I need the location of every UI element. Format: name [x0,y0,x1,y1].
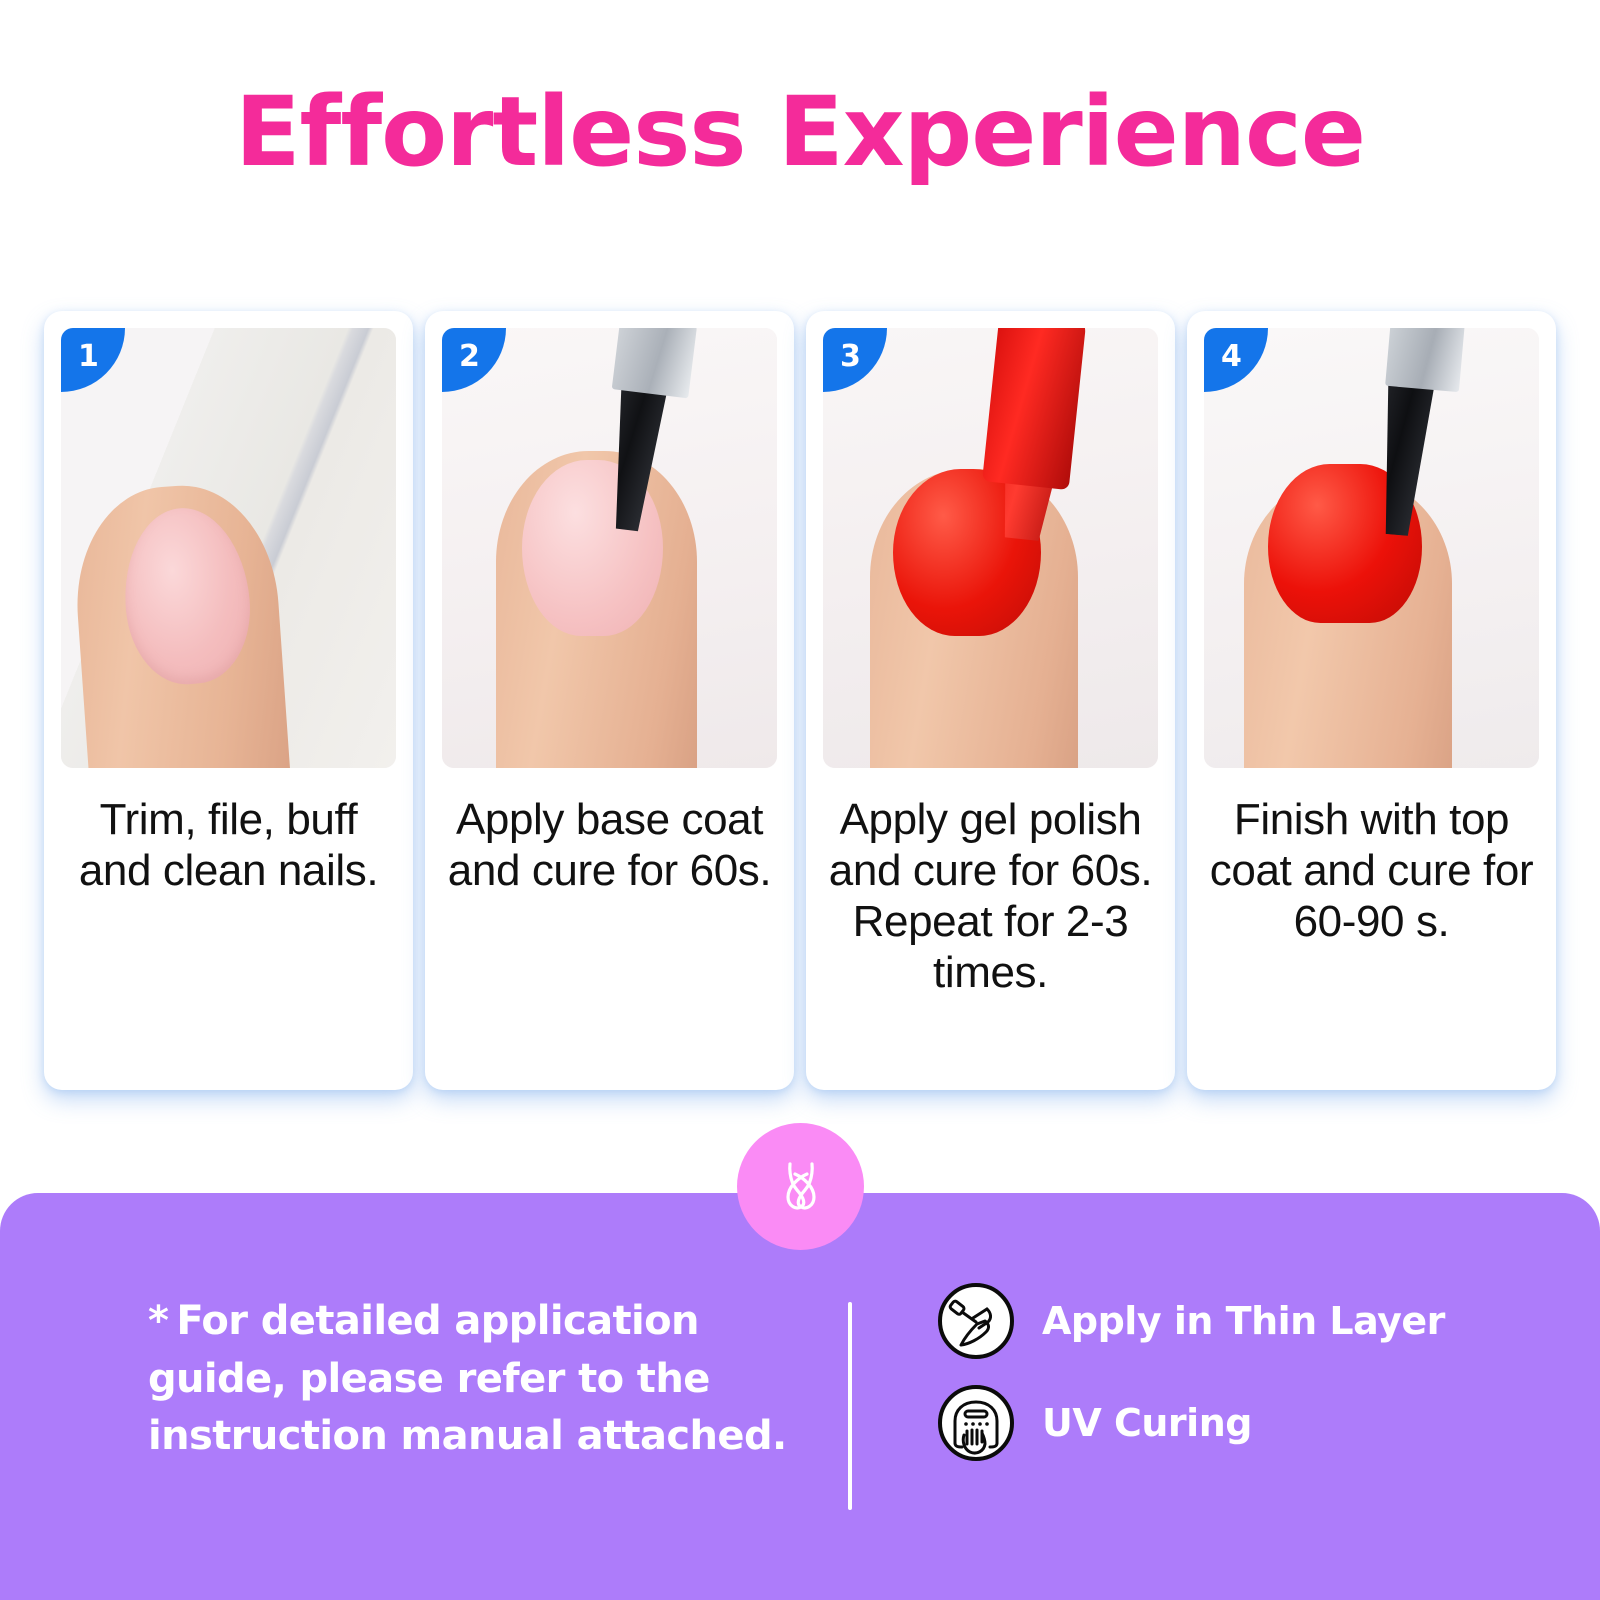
nail-file-photo [61,328,396,768]
step-card-2[interactable]: 2 Apply base coat and cure for 60s. [425,311,794,1090]
step-card-1[interactable]: 1 Trim, file, buff and clean nails. [44,311,413,1090]
brand-loop-logo [764,1150,838,1224]
step-image-4 [1204,328,1539,768]
step-card-3[interactable]: 3 Apply gel polish and cure for 60s. Rep… [806,311,1175,1090]
step-badge-1-number: 1 [78,342,99,372]
steps-row: 1 Trim, file, buff and clean nails. 2 [44,311,1556,1090]
brush-cap-shape [1385,328,1465,393]
step-caption-4: Finish with top coat and cure for 60-90 … [1204,794,1539,947]
base-coat-photo [442,328,777,768]
top-coat-photo [1204,328,1539,768]
step-image-3 [823,328,1158,768]
footnote-body: For detailed application guide, please r… [148,1298,787,1459]
thin-layer-brush-icon [938,1283,1014,1359]
step-caption-1: Trim, file, buff and clean nails. [61,794,396,896]
step-caption-3: Apply gel polish and cure for 60s. Repea… [823,794,1158,998]
footnote-text: *For detailed application guide, please … [148,1293,808,1466]
step-card-4[interactable]: 4 Finish with top coat and cure for 60-9… [1187,311,1556,1090]
brush-on-nail-glyph [942,1287,1010,1355]
uv-lamp-icon [938,1385,1014,1461]
brand-logo-badge [737,1123,864,1250]
page-title: Effortless Experience [0,76,1600,188]
uv-lamp-with-hand-glyph [942,1389,1010,1457]
step-badge-3-number: 3 [840,342,861,372]
feature-thin-layer-label: Apply in Thin Layer [1042,1299,1445,1343]
feature-list: Apply in Thin Layer [938,1283,1445,1461]
footnote-marker: * [148,1298,168,1344]
footer-divider [848,1302,852,1510]
step-badge-2-number: 2 [459,342,480,372]
feature-uv-curing-label: UV Curing [1042,1401,1252,1445]
gel-polish-photo [823,328,1158,768]
step-image-2 [442,328,777,768]
feature-thin-layer: Apply in Thin Layer [938,1283,1445,1359]
infographic-page: Effortless Experience 1 Trim, file, buff… [0,0,1600,1600]
step-image-1 [61,328,396,768]
step-badge-4-number: 4 [1221,342,1242,372]
brush-cap-shape [612,328,698,398]
feature-uv-curing: UV Curing [938,1385,1445,1461]
polish-bottle-shape [982,328,1087,490]
step-caption-2: Apply base coat and cure for 60s. [442,794,777,896]
